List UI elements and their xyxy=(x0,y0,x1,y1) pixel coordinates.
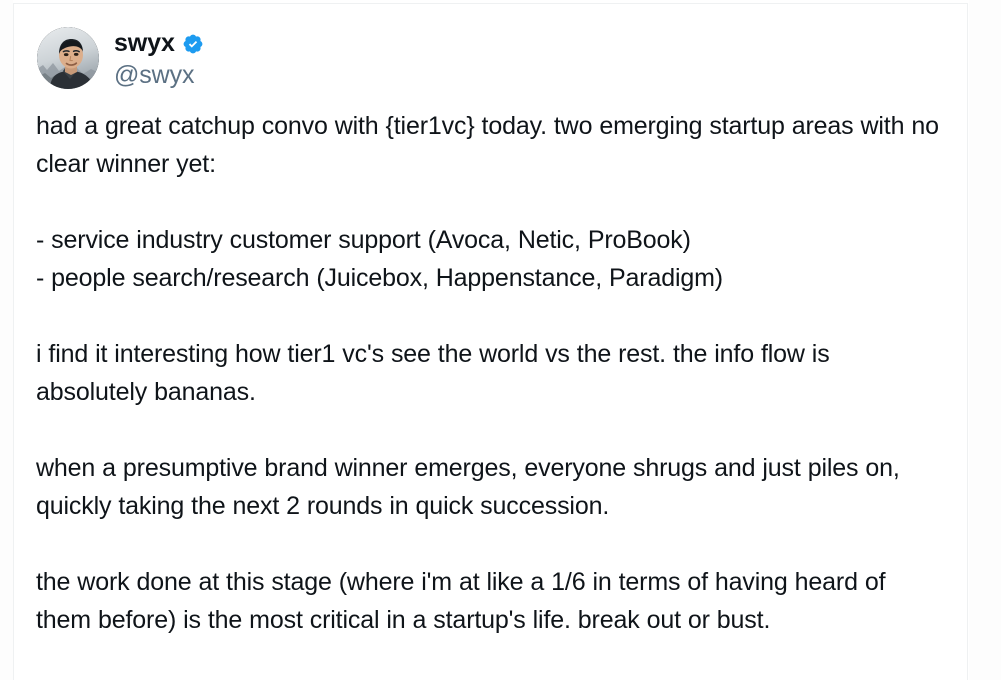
tweet-paragraph: had a great catchup convo with {tier1vc}… xyxy=(36,107,945,183)
tweet-header: swyx @swyx xyxy=(14,4,967,89)
page-gutter-right xyxy=(969,0,1001,680)
tweet-paragraph: the work done at this stage (where i'm a… xyxy=(36,563,945,639)
tweet-list: - service industry customer support (Avo… xyxy=(36,221,945,297)
tweet-card[interactable]: swyx @swyx had a great catchup convo wit… xyxy=(13,3,968,680)
avatar[interactable] xyxy=(37,27,99,89)
page-gutter-left xyxy=(0,0,13,680)
tweet-paragraph: i find it interesting how tier1 vc's see… xyxy=(36,335,945,411)
verified-badge-icon[interactable] xyxy=(182,33,204,55)
author-display-name[interactable]: swyx xyxy=(114,29,175,57)
author-handle[interactable]: @swyx xyxy=(114,61,204,89)
author-identity: swyx @swyx xyxy=(114,27,204,89)
tweet-paragraph: when a presumptive brand winner emerges,… xyxy=(36,449,945,525)
author-name-row: swyx xyxy=(114,29,204,57)
tweet-text: had a great catchup convo with {tier1vc}… xyxy=(14,89,967,639)
